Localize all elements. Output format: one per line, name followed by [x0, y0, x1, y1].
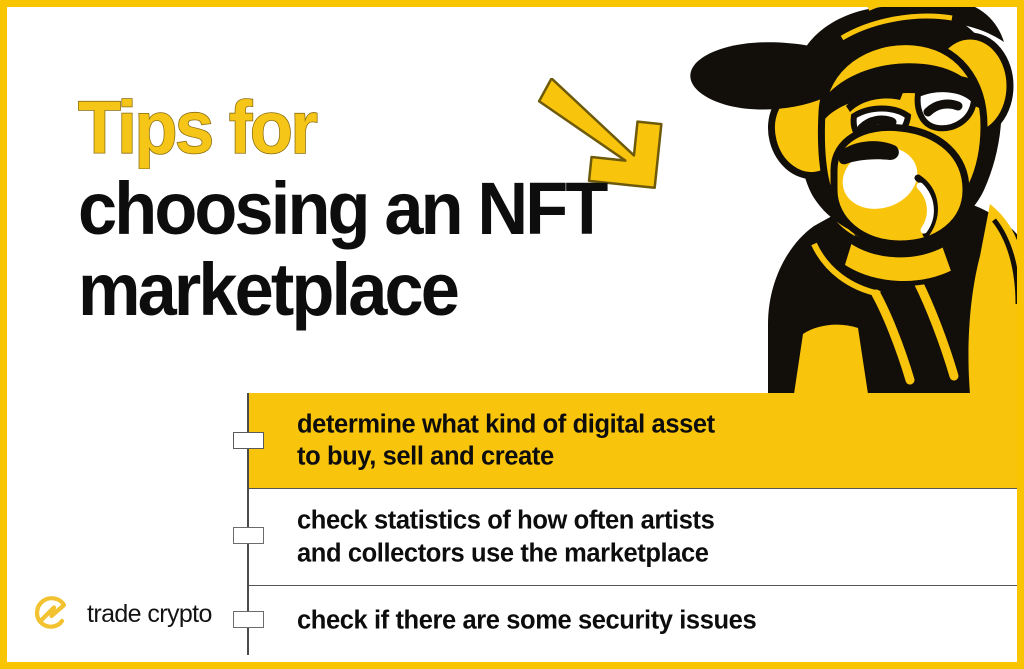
checklist-item-3-label: check if there are some security issues — [297, 604, 1007, 637]
headline-line-2: choosing an NFT — [78, 171, 605, 246]
checklist-item-2[interactable]: check statistics of how often artists an… — [247, 488, 1017, 585]
headline-line-3: marketplace — [78, 252, 605, 327]
headline-line-1: Tips for — [78, 92, 605, 165]
page-title: Tips for choosing an NFT marketplace — [78, 92, 633, 327]
checklist-item-1-label: determine what kind of digital asset to … — [297, 408, 1007, 473]
brand-logo[interactable]: trade crypto — [30, 592, 212, 636]
checkbox-item-2[interactable] — [233, 527, 264, 544]
checkbox-item-1[interactable] — [233, 432, 264, 449]
trade-crypto-mark-icon — [30, 592, 74, 636]
bored-ape-illustration — [618, 0, 1024, 394]
checklist-item-2-label: check statistics of how often artists an… — [297, 504, 1007, 569]
checklist-item-1[interactable]: determine what kind of digital asset to … — [247, 393, 1017, 488]
checkbox-item-3[interactable] — [233, 611, 264, 628]
poster-canvas: Tips for choosing an NFT marketplace det… — [0, 0, 1024, 669]
checklist-item-3[interactable]: check if there are some security issues — [247, 585, 1017, 655]
logo-text: trade crypto — [87, 600, 212, 629]
tips-checklist: determine what kind of digital asset to … — [247, 393, 1017, 655]
